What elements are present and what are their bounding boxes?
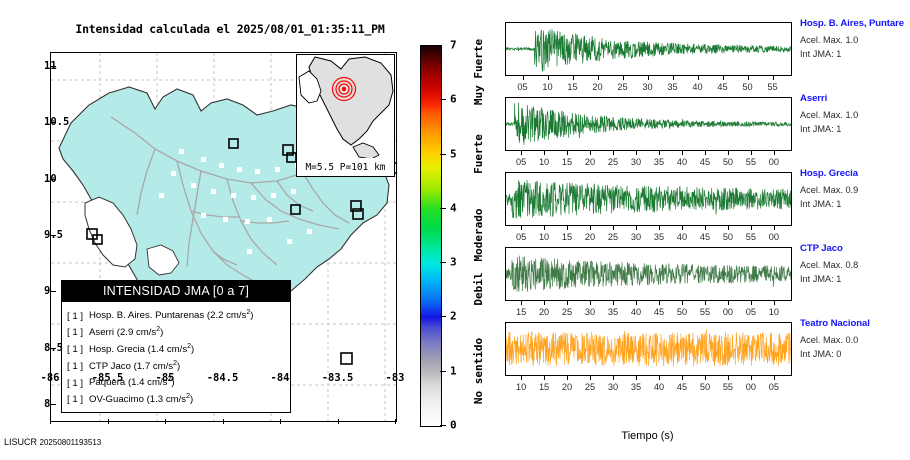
seismogram-tick-mark: [698, 76, 699, 80]
seismogram-info: CTP JacoAcel. Max. 0.8Int JMA: 1: [800, 243, 910, 286]
seismogram-tick-mark: [773, 76, 774, 80]
legend-station: OV-Guacimo: [89, 394, 144, 405]
map-xtick-label: -85: [156, 372, 175, 384]
seismogram-tick-mark: [705, 376, 706, 380]
seismogram-tick-mark: [659, 151, 660, 155]
seismogram-tick-label: 00: [769, 157, 779, 167]
seismogram-tick-label: 45: [700, 232, 710, 242]
seismogram-tick-mark: [774, 151, 775, 155]
map-ytick-mark: [51, 291, 56, 292]
seismogram-accel-value: Acel. Max. 1.0: [800, 34, 910, 47]
seismogram-info: Hosp. B. Aires, PuntareAcel. Max. 1.0Int…: [800, 18, 910, 61]
seismogram-tick-mark: [705, 226, 706, 230]
inset-magnitude-label: M=5.5 P=101 km: [296, 158, 395, 177]
seismogram-tick-label: 45: [700, 157, 710, 167]
waveform: [506, 248, 791, 300]
seismogram-tick-label: 00: [769, 232, 779, 242]
seismogram-tick-label: 50: [723, 157, 733, 167]
seismogram-tick-mark: [590, 226, 591, 230]
legend-accel: 1.7: [137, 361, 150, 372]
seismogram-xaxis: 101520253035404550550005: [505, 376, 790, 392]
seismogram-station-name[interactable]: Aserri: [800, 93, 910, 104]
seismogram-tick-label: 40: [631, 307, 641, 317]
seismogram-info: Teatro NacionalAcel. Max. 0.0Int JMA: 0: [800, 318, 910, 361]
seismogram-trace[interactable]: [505, 97, 792, 151]
seismogram-info: Hosp. GreciaAcel. Max. 0.9Int JMA: 1: [800, 168, 910, 211]
seismogram-tick-label: 30: [631, 157, 641, 167]
seismogram-tick-mark: [523, 76, 524, 80]
seismogram-tick-mark: [636, 226, 637, 230]
seismogram-tick-mark: [774, 226, 775, 230]
seismogram-tick-label: 35: [631, 382, 641, 392]
seismogram-jma-value: Int JMA: 1: [800, 123, 910, 136]
seismogram-tick-label: 40: [692, 82, 702, 92]
map-ytick-label: 8: [44, 398, 50, 410]
map-ytick-mark: [51, 122, 56, 123]
seismogram-tick-mark: [590, 301, 591, 305]
seismogram-tick-mark: [567, 376, 568, 380]
map-xtick-mark: [50, 419, 51, 424]
colorbar-tick-mark: [440, 208, 446, 209]
footer-code: 20250801193513: [40, 438, 102, 447]
map-xtick-mark: [395, 419, 396, 424]
seismogram-accel-value: Acel. Max. 0.0: [800, 334, 910, 347]
map-xtick-mark: [280, 419, 281, 424]
seismogram-tick-label: 45: [677, 382, 687, 392]
seismogram-tick-label: 05: [517, 82, 527, 92]
seismogram-tick-mark: [544, 376, 545, 380]
epicenter-marker: [331, 76, 357, 102]
colorbar-tick-label: 4: [450, 201, 457, 214]
intensity-legend: INTENSIDAD JMA [0 a 7] [ 1 ]Hosp. B. Air…: [61, 280, 291, 413]
footer: LISUCR 20250801193513: [4, 437, 101, 447]
seismogram-xaxis: 152025303540455055000510: [505, 301, 790, 317]
seismogram-tick-mark: [613, 226, 614, 230]
seismogram-tick-mark: [728, 151, 729, 155]
seismogram-tick-label: 40: [654, 382, 664, 392]
colorbar-tick-mark: [440, 154, 446, 155]
legend-station: Hosp. Grecia: [89, 344, 145, 355]
seismogram-tick-label: 10: [769, 307, 779, 317]
legend-accel: 1.3: [150, 394, 163, 405]
map-title: Intensidad calculada el 2025/08/01_01:35…: [0, 22, 460, 36]
seismogram-tick-mark: [774, 301, 775, 305]
seismogram-tick-mark: [705, 301, 706, 305]
map-ytick-label: 9: [44, 285, 50, 297]
legend-row: [ 1 ]OV-Guacimo (1.3 cm/s2): [67, 390, 290, 407]
seismogram-tick-label: 05: [769, 382, 779, 392]
seismogram-tick-label: 35: [654, 232, 664, 242]
seismogram-accel-value: Acel. Max. 0.8: [800, 259, 910, 272]
colorbar-tick-label: 7: [450, 39, 457, 52]
seismogram-tick-mark: [573, 76, 574, 80]
seismogram-tick-mark: [548, 76, 549, 80]
seismogram-jma-value: Int JMA: 1: [800, 48, 910, 61]
seismogram-station-name[interactable]: CTP Jaco: [800, 243, 910, 254]
seismogram-tick-label: 30: [642, 82, 652, 92]
map-ytick-mark: [51, 235, 56, 236]
seismogram-tick-mark: [567, 151, 568, 155]
seismogram-xaxis: 0510152025303540455055: [505, 76, 790, 92]
intensity-colorbar: 76543210Muy FuerteFuerteModeradoDebilNo …: [420, 45, 490, 425]
inset-landmass: [297, 55, 394, 159]
legend-unit: cm/s: [153, 361, 173, 372]
colorbar-category-label: Muy Fuerte: [472, 39, 485, 105]
colorbar-category-label: Moderado: [472, 209, 485, 262]
legend-station: Aserri: [89, 327, 114, 338]
seismogram-tick-mark: [659, 376, 660, 380]
map-ytick-mark: [51, 66, 56, 67]
seismogram-tick-mark: [613, 151, 614, 155]
legend-accel: 1.4: [131, 378, 144, 389]
seismogram-accel-value: Acel. Max. 1.0: [800, 109, 910, 122]
seismogram-tick-label: 20: [585, 157, 595, 167]
colorbar-tick-label: 3: [450, 256, 457, 269]
seismogram-tick-label: 35: [654, 157, 664, 167]
seismogram-tick-mark: [623, 76, 624, 80]
seismogram-tick-label: 50: [700, 382, 710, 392]
seismogram-tick-label: 15: [562, 232, 572, 242]
legend-unit-exponent: 2: [186, 393, 190, 400]
seismogram-tick-label: 05: [746, 307, 756, 317]
colorbar-tick-label: 1: [450, 364, 457, 377]
seismogram-tick-mark: [774, 376, 775, 380]
seismogram-tick-mark: [705, 151, 706, 155]
seismogram-tick-label: 20: [562, 382, 572, 392]
seismogram-info: AserriAcel. Max. 1.0Int JMA: 1: [800, 93, 910, 136]
seismogram-jma-value: Int JMA: 1: [800, 198, 910, 211]
seismogram-tick-label: 20: [592, 82, 602, 92]
seismogram-tick-mark: [682, 376, 683, 380]
map-xtick-label: -84: [271, 372, 290, 384]
legend-unit-exponent: 2: [246, 309, 250, 316]
colorbar-tick-mark: [440, 262, 446, 263]
legend-row: [ 1 ]Hosp. B. Aires. Puntarenas (2.2 cm/…: [67, 306, 290, 323]
waveform: [506, 323, 791, 375]
seismogram-tick-mark: [751, 151, 752, 155]
colorbar-tick-label: 0: [450, 419, 457, 432]
seismogram-tick-mark: [682, 301, 683, 305]
colorbar-tick-label: 6: [450, 93, 457, 106]
colorbar-tick-mark: [440, 425, 446, 426]
seismogram-tick-label: 15: [539, 382, 549, 392]
map-ytick-mark: [51, 404, 56, 405]
seismogram-tick-label: 25: [608, 232, 618, 242]
legend-header: INTENSIDAD JMA [0 a 7]: [62, 281, 290, 302]
seismogram-xaxis: 051015202530354045505500: [505, 151, 790, 167]
seismogram-tick-label: 10: [542, 82, 552, 92]
waveform: [506, 173, 791, 225]
legend-accel: 1.4: [151, 344, 164, 355]
intensity-map[interactable]: M=5.5 P=101 km INTENSIDAD JMA [0 a 7] [ …: [50, 52, 397, 422]
legend-bracket: [ 1 ]: [67, 360, 89, 374]
seismogram-tick-label: 55: [700, 307, 710, 317]
seismogram-tick-mark: [728, 301, 729, 305]
colorbar-gradient: [420, 45, 442, 427]
seismogram-tick-label: 00: [746, 382, 756, 392]
legend-accel: 2.9: [120, 327, 133, 338]
seismogram-tick-mark: [648, 76, 649, 80]
legend-unit: cm/s: [166, 394, 186, 405]
waveform: [506, 98, 791, 150]
map-xtick-label: -85.5: [92, 372, 124, 384]
seismogram-tick-label: 55: [746, 157, 756, 167]
seismogram-tick-label: 05: [516, 157, 526, 167]
waveform: [506, 23, 791, 75]
map-xtick-label: -84.5: [207, 372, 239, 384]
seismogram-tick-label: 15: [567, 82, 577, 92]
seismogram-station-name[interactable]: Hosp. Grecia: [800, 168, 910, 179]
seismogram-tick-mark: [751, 376, 752, 380]
seismogram-tick-label: 15: [562, 157, 572, 167]
seismogram-tick-label: 10: [516, 382, 526, 392]
footer-org: LISUCR: [4, 437, 37, 447]
seismogram-tick-label: 50: [677, 307, 687, 317]
seismogram-tick-mark: [728, 226, 729, 230]
seismogram-tick-label: 35: [667, 82, 677, 92]
seismogram-xaxis: 051015202530354045505500: [505, 226, 790, 242]
map-ytick-mark: [51, 348, 56, 349]
seismogram-tick-label: 35: [608, 307, 618, 317]
seismogram-tick-mark: [728, 376, 729, 380]
legend-row: [ 1 ]CTP Jaco (1.7 cm/s2): [67, 357, 290, 374]
seismogram-tick-label: 55: [767, 82, 777, 92]
legend-row: [ 1 ]Hosp. Grecia (1.4 cm/s2): [67, 340, 290, 357]
seismogram-tick-mark: [682, 226, 683, 230]
legend-unit-exponent: 2: [187, 343, 191, 350]
seismogram-tick-label: 10: [539, 232, 549, 242]
seismogram-xaxis-label: Tiempo (s): [505, 430, 790, 442]
seismogram-jma-value: Int JMA: 0: [800, 348, 910, 361]
map-xtick-label: -86: [41, 372, 60, 384]
legend-bracket: [ 1 ]: [67, 326, 89, 340]
legend-unit-exponent: 2: [173, 360, 177, 367]
map-ytick-mark: [51, 179, 56, 180]
legend-station: CTP Jaco: [89, 361, 131, 372]
map-xtick-mark: [108, 419, 109, 424]
seismogram-tick-mark: [636, 301, 637, 305]
legend-bracket: [ 1 ]: [67, 377, 89, 391]
seismogram-tick-label: 25: [608, 157, 618, 167]
seismogram-tick-mark: [567, 226, 568, 230]
seismogram-tick-label: 25: [585, 382, 595, 392]
seismogram-tick-label: 50: [742, 82, 752, 92]
seismogram-tick-mark: [598, 76, 599, 80]
seismogram-accel-value: Acel. Max. 0.9: [800, 184, 910, 197]
seismogram-tick-label: 45: [654, 307, 664, 317]
legend-bracket: [ 1 ]: [67, 310, 89, 324]
colorbar-tick-label: 2: [450, 310, 457, 323]
seismogram-tick-label: 45: [717, 82, 727, 92]
legend-unit: cm/s: [226, 311, 246, 322]
seismogram-tick-mark: [751, 226, 752, 230]
legend-row: [ 1 ]Aserri (2.9 cm/s2): [67, 323, 290, 340]
seismogram-tick-label: 30: [608, 382, 618, 392]
seismogram-tick-label: 55: [723, 382, 733, 392]
legend-unit: cm/s: [136, 327, 156, 338]
seismogram-trace[interactable]: [505, 22, 792, 76]
map-xtick-mark: [338, 419, 339, 424]
seismogram-tick-label: 20: [539, 307, 549, 317]
map-ytick-label: 10.5: [44, 116, 69, 128]
seismogram-tick-mark: [673, 76, 674, 80]
seismogram-tick-mark: [659, 301, 660, 305]
seismogram-tick-mark: [590, 151, 591, 155]
seismogram-tick-mark: [613, 301, 614, 305]
seismogram-tick-mark: [636, 376, 637, 380]
seismogram-trace[interactable]: [505, 322, 792, 376]
legend-body: [ 1 ]Hosp. B. Aires. Puntarenas (2.2 cm/…: [62, 302, 290, 412]
seismogram-tick-mark: [544, 301, 545, 305]
seismogram-tick-mark: [659, 226, 660, 230]
seismogram-trace[interactable]: [505, 247, 792, 301]
seismogram-tick-label: 15: [516, 307, 526, 317]
colorbar-tick-mark: [440, 371, 446, 372]
legend-unit: cm/s: [167, 344, 187, 355]
legend-bracket: [ 1 ]: [67, 343, 89, 357]
seismogram-tick-label: 00: [723, 307, 733, 317]
seismogram-tick-label: 25: [617, 82, 627, 92]
colorbar-category-label: Fuerte: [472, 134, 485, 174]
colorbar-category-label: Debil: [472, 273, 485, 306]
map-xtick-mark: [165, 419, 166, 424]
seismogram-tick-mark: [544, 151, 545, 155]
seismogram-tick-mark: [723, 76, 724, 80]
seismogram-tick-mark: [590, 376, 591, 380]
seismogram-tick-mark: [544, 226, 545, 230]
seismogram-tick-mark: [682, 151, 683, 155]
seismogram-tick-label: 40: [677, 232, 687, 242]
seismogram-tick-mark: [521, 301, 522, 305]
seismogram-tick-mark: [751, 301, 752, 305]
legend-bracket: [ 1 ]: [67, 393, 89, 407]
seismogram-tick-label: 10: [539, 157, 549, 167]
seismogram-tick-label: 50: [723, 232, 733, 242]
seismogram-tick-label: 30: [585, 307, 595, 317]
colorbar-category-label: No sentido: [472, 338, 485, 404]
seismogram-tick-label: 40: [677, 157, 687, 167]
map-xtick-mark: [223, 419, 224, 424]
seismogram-tick-mark: [567, 301, 568, 305]
seismogram-tick-mark: [636, 151, 637, 155]
map-xtick-label: -83.5: [322, 372, 354, 384]
colorbar-tick-mark: [440, 99, 446, 100]
legend-accel: 2.2: [210, 311, 223, 322]
seismogram-tick-mark: [521, 226, 522, 230]
legend-unit-exponent: 2: [156, 326, 160, 333]
seismogram-tick-mark: [521, 376, 522, 380]
seismogram-tick-label: 30: [631, 232, 641, 242]
map-xtick-label: -83: [386, 372, 405, 384]
seismogram-tick-label: 55: [746, 232, 756, 242]
colorbar-tick-mark: [440, 316, 446, 317]
seismogram-station-name[interactable]: Teatro Nacional: [800, 318, 910, 329]
seismogram-tick-label: 20: [585, 232, 595, 242]
seismogram-trace[interactable]: [505, 172, 792, 226]
inset-locator-map[interactable]: [296, 54, 395, 160]
seismogram-tick-label: 25: [562, 307, 572, 317]
seismogram-tick-mark: [748, 76, 749, 80]
seismogram-tick-mark: [521, 151, 522, 155]
legend-station: Hosp. B. Aires. Puntarenas: [89, 311, 204, 322]
seismogram-jma-value: Int JMA: 1: [800, 273, 910, 286]
colorbar-tick-label: 5: [450, 147, 457, 160]
seismogram-tick-label: 05: [516, 232, 526, 242]
seismogram-station-name[interactable]: Hosp. B. Aires, Puntare: [800, 18, 910, 29]
seismogram-tick-mark: [613, 376, 614, 380]
